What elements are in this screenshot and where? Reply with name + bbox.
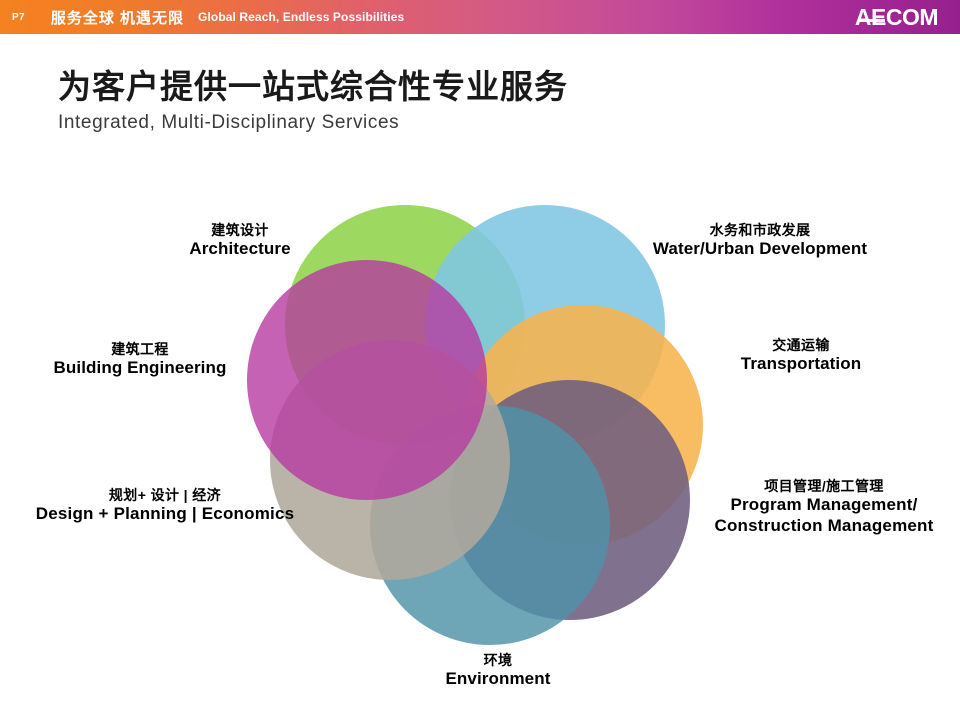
venn-label-transportation-en: Transportation	[706, 354, 896, 375]
venn-label-environment: 环境 Environment	[408, 652, 588, 690]
venn-label-design-en: Design + Planning | Economics	[10, 504, 320, 525]
header-bar: P7 服务全球 机遇无限 Global Reach, Endless Possi…	[0, 0, 960, 34]
venn-label-program-cn: 项目管理/施工管理	[690, 478, 958, 495]
venn-label-design-cn: 规划+ 设计 | 经济	[10, 487, 320, 504]
aecom-ae-ligature: AE	[855, 6, 886, 29]
page-number: P7	[12, 12, 25, 23]
aecom-logo-rest: COM	[886, 4, 938, 30]
venn-circle-transportation	[463, 305, 703, 545]
venn-circle-program-construction-management	[450, 380, 690, 620]
venn-circle-environment	[370, 405, 610, 645]
page-title-block: 为客户提供一站式综合性专业服务 Integrated, Multi-Discip…	[58, 68, 568, 134]
page-title-cn: 为客户提供一站式综合性专业服务	[58, 68, 568, 106]
header-slogan-cn: 服务全球 机遇无限	[51, 7, 184, 28]
venn-label-environment-en: Environment	[408, 669, 588, 690]
venn-label-transportation-cn: 交通运输	[706, 337, 896, 354]
venn-circle-building-engineering	[247, 260, 487, 500]
venn-label-architecture: 建筑设计 Architecture	[150, 222, 330, 260]
venn-label-design-planning-economics: 规划+ 设计 | 经济 Design + Planning | Economic…	[10, 487, 320, 525]
venn-label-building-cn: 建筑工程	[30, 341, 250, 358]
venn-circle-water-urban-development	[425, 205, 665, 445]
venn-label-program-en-line1: Program Management/	[690, 495, 958, 516]
header-slogan-en: Global Reach, Endless Possibilities	[198, 10, 404, 24]
venn-label-water-en: Water/Urban Development	[630, 239, 890, 260]
venn-label-water-cn: 水务和市政发展	[630, 222, 890, 239]
aecom-logo: AECOM	[855, 4, 938, 30]
venn-label-transportation: 交通运输 Transportation	[706, 337, 896, 375]
aecom-logo-a: A	[855, 4, 871, 30]
venn-label-architecture-en: Architecture	[150, 239, 330, 260]
page-subtitle-en: Integrated, Multi-Disciplinary Services	[58, 112, 568, 134]
venn-label-building-engineering: 建筑工程 Building Engineering	[30, 341, 250, 379]
aecom-logo-text: AECOM	[855, 6, 938, 29]
venn-label-water-urban-development: 水务和市政发展 Water/Urban Development	[630, 222, 890, 260]
venn-label-building-en: Building Engineering	[30, 358, 250, 379]
venn-label-architecture-cn: 建筑设计	[150, 222, 330, 239]
venn-label-program-en-line2: Construction Management	[690, 516, 958, 537]
aecom-logo-e: E	[871, 4, 886, 30]
venn-circle-design-planning-economics	[270, 340, 510, 580]
venn-label-environment-cn: 环境	[408, 652, 588, 669]
venn-label-program-construction-management: 项目管理/施工管理 Program Management/ Constructi…	[690, 478, 958, 537]
